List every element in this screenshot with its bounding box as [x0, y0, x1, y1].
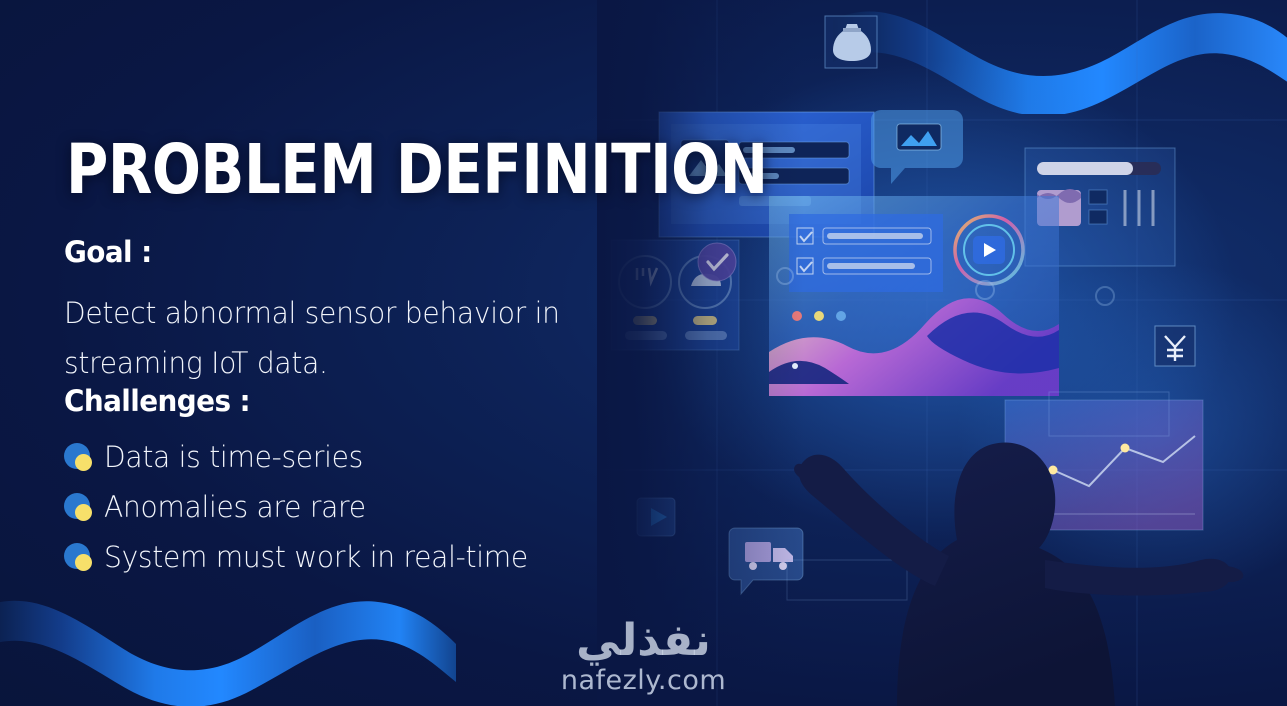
slide-canvas: PROBLEM DEFINITION Goal : Detect abnorma… — [0, 0, 1287, 706]
list-item-label: Anomalies are rare — [104, 493, 366, 522]
store-icon — [1037, 189, 1081, 226]
progress-bar-card-icon — [1025, 148, 1175, 266]
blue-yellow-dot-icon — [64, 493, 92, 521]
person-silhouette — [794, 443, 1243, 706]
list-item-label: System must work in real-time — [104, 543, 528, 572]
delivery-truck-bubble-icon — [729, 528, 803, 594]
list-item: System must work in real-time — [64, 532, 541, 582]
money-bag-icon — [825, 16, 877, 68]
play-button-circle-icon — [955, 216, 1023, 284]
slide-text-column: PROBLEM DEFINITION Goal : Detect abnorma… — [0, 0, 660, 706]
challenges-list: Data is time-series Anomalies are rare S… — [64, 432, 541, 582]
chat-bubble-icon — [871, 110, 963, 184]
blue-yellow-dot-icon — [64, 443, 92, 471]
page-title: PROBLEM DEFINITION — [66, 136, 768, 205]
challenges-heading: Challenges : — [64, 387, 250, 416]
person-viewing-dashboard-illustration — [597, 0, 1287, 706]
list-item: Anomalies are rare — [64, 482, 541, 532]
list-item-label: Data is time-series — [104, 443, 363, 472]
goal-text: Detect abnormal sensor behavior in strea… — [64, 288, 588, 388]
checkbox-list-screen-icon — [769, 196, 1059, 396]
list-item: Data is time-series — [64, 432, 541, 482]
yen-badge-icon — [1155, 326, 1195, 366]
goal-heading: Goal : — [64, 238, 152, 267]
line-chart-card-icon — [1005, 400, 1203, 530]
check-badge-icon — [698, 243, 736, 281]
blue-yellow-dot-icon — [64, 543, 92, 571]
